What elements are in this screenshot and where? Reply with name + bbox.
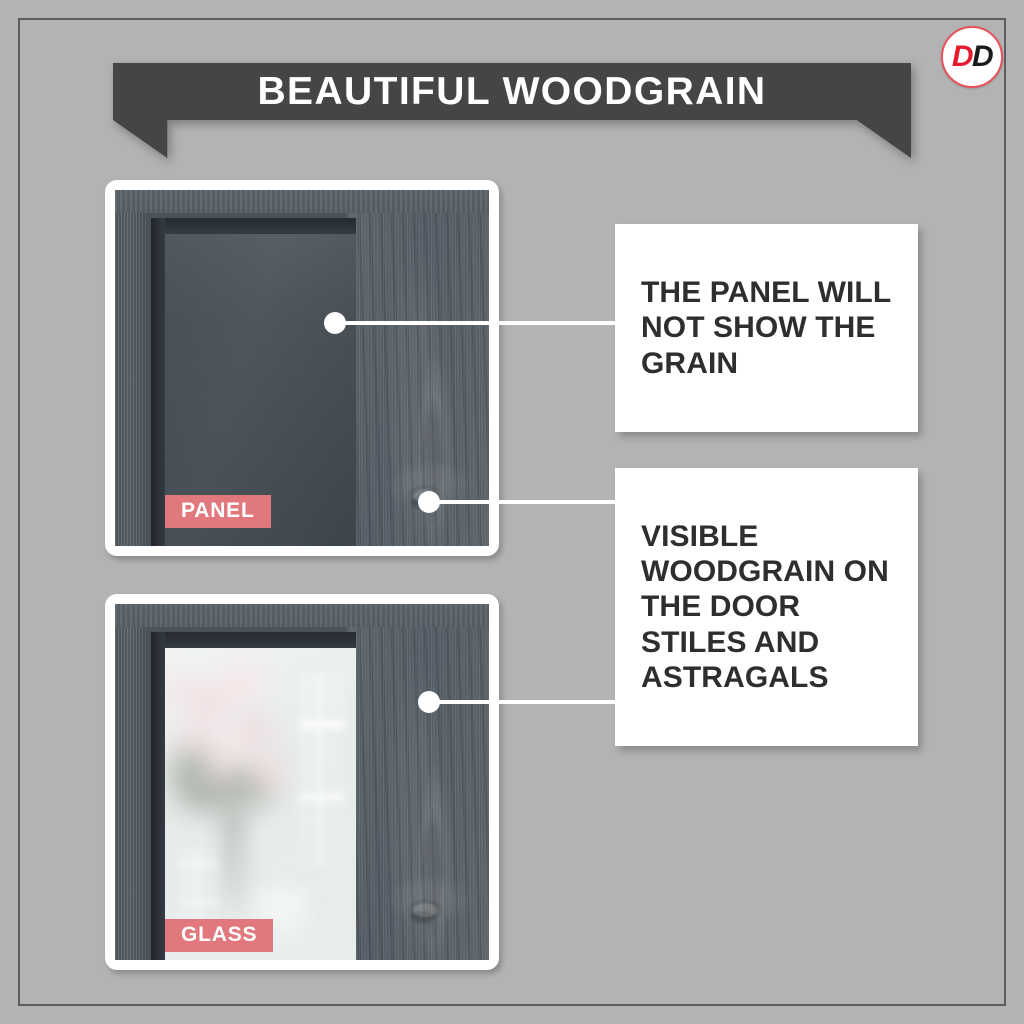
header-banner: BEAUTIFUL WOODGRAIN [113, 63, 911, 158]
recess-bevel-left [151, 632, 165, 960]
glass-tag-label: GLASS [165, 919, 273, 952]
connector-line-stile-top [434, 500, 618, 504]
recess-bevel-top [151, 632, 357, 648]
infographic-stage: BEAUTIFUL WOODGRAIN DD PANEL [0, 0, 1024, 1024]
glass-door-image: GLASS [115, 604, 489, 960]
woodgrain-stile [347, 604, 489, 960]
connector-dot-stile-bottom [418, 691, 440, 713]
blurred-flowers [168, 652, 310, 845]
panel-tag-label: PANEL [165, 495, 271, 528]
page-title: BEAUTIFUL WOODGRAIN [113, 63, 911, 120]
blurred-stem [224, 810, 243, 916]
connector-dot-stile-top [418, 491, 440, 513]
door-left-rail [115, 190, 147, 546]
woodgrain-stile [347, 190, 489, 546]
logo-letter-1: D [952, 42, 972, 72]
glass-door-photo: GLASS [105, 594, 499, 970]
connector-dot-panel [324, 312, 346, 334]
logo-letter-2: D [972, 42, 992, 72]
callout-visible-woodgrain-text: VISIBLE WOODGRAIN ON THE DOOR STILES AND… [641, 519, 898, 696]
window-reflection-right [299, 673, 345, 866]
door-left-rail [115, 604, 147, 960]
logo-text: DD [952, 42, 992, 72]
callout-visible-woodgrain: VISIBLE WOODGRAIN ON THE DOOR STILES AND… [615, 468, 918, 746]
door-top-rail [115, 190, 489, 213]
glass-recess [151, 632, 357, 960]
callout-panel-grain-text: THE PANEL WILL NOT SHOW THE GRAIN [641, 275, 898, 381]
dd-logo[interactable]: DD [941, 26, 1003, 88]
connector-line-panel [340, 321, 618, 325]
connector-line-stile-bottom [434, 700, 618, 704]
recess-bevel-top [151, 218, 357, 234]
door-top-rail [115, 604, 489, 627]
recess-bevel-left [151, 218, 165, 546]
callout-panel-grain: THE PANEL WILL NOT SHOW THE GRAIN [615, 224, 918, 432]
frosted-glass-surface [165, 648, 357, 960]
